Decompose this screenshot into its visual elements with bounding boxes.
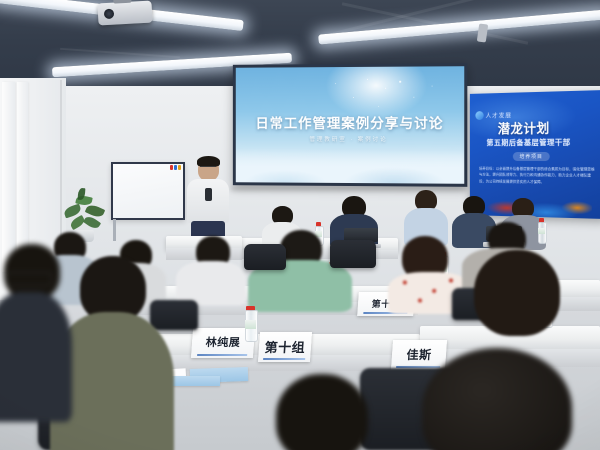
whiteboard-markers-icon [170, 165, 181, 170]
whiteboard [111, 162, 185, 220]
projection-screen: 日常工作管理案例分享与讨论 管理教研室 · 案例讨论 [233, 63, 467, 187]
chair [330, 240, 376, 268]
presenter [185, 158, 231, 244]
torso [0, 292, 72, 422]
head [474, 250, 560, 336]
banner-title: 潜龙计划 [498, 117, 600, 137]
chair [244, 244, 286, 270]
classroom-photo: 日常工作管理案例分享与讨论 管理教研室 · 案例讨论 人才发展 潜龙计划 第五期… [0, 0, 600, 450]
slide-cloud-graphic [236, 149, 464, 184]
whiteboard-stand [113, 219, 116, 241]
water-bottle [245, 306, 256, 340]
attendee-front-left-glasses [0, 244, 72, 414]
ceiling-projector [97, 1, 152, 26]
projector-lens-icon [104, 9, 115, 20]
company-logo-icon [475, 111, 483, 120]
placard-text: 林纯展 [205, 338, 240, 349]
banner-pill-label: 培养项目 [513, 152, 550, 161]
placard-accent-bar [263, 358, 305, 360]
attendee-right-dark-hair [474, 250, 594, 370]
projection-screen-surface: 日常工作管理案例分享与讨论 管理教研室 · 案例讨论 [236, 66, 464, 184]
placard-accent-bar [197, 354, 247, 356]
bottle-label [245, 320, 256, 329]
window-blind [17, 82, 28, 267]
banner-body-text: 培养目标：以全面提升后备基层管理干部的综合素质为目标，强化管理思维与方法，提升团… [479, 166, 596, 186]
torso [176, 261, 246, 305]
slide-title: 日常工作管理案例分享与讨论 [236, 112, 464, 132]
attendee-front-center [250, 374, 392, 450]
glasses-icon [6, 272, 52, 286]
head [276, 374, 368, 450]
placard-text: 第十组 [264, 341, 305, 354]
potted-plant [62, 188, 108, 238]
microphone-icon [205, 188, 212, 201]
attendee-mid-left [176, 236, 246, 302]
paper-handout [168, 376, 220, 386]
presenter-shirt [187, 179, 229, 223]
name-placard: 第十组 [258, 332, 312, 362]
banner-subtitle: 第五期后备基层管理干部 [486, 136, 600, 148]
glasses-icon [200, 166, 216, 171]
slide-subtitle: 管理教研室 · 案例讨论 [236, 135, 464, 143]
